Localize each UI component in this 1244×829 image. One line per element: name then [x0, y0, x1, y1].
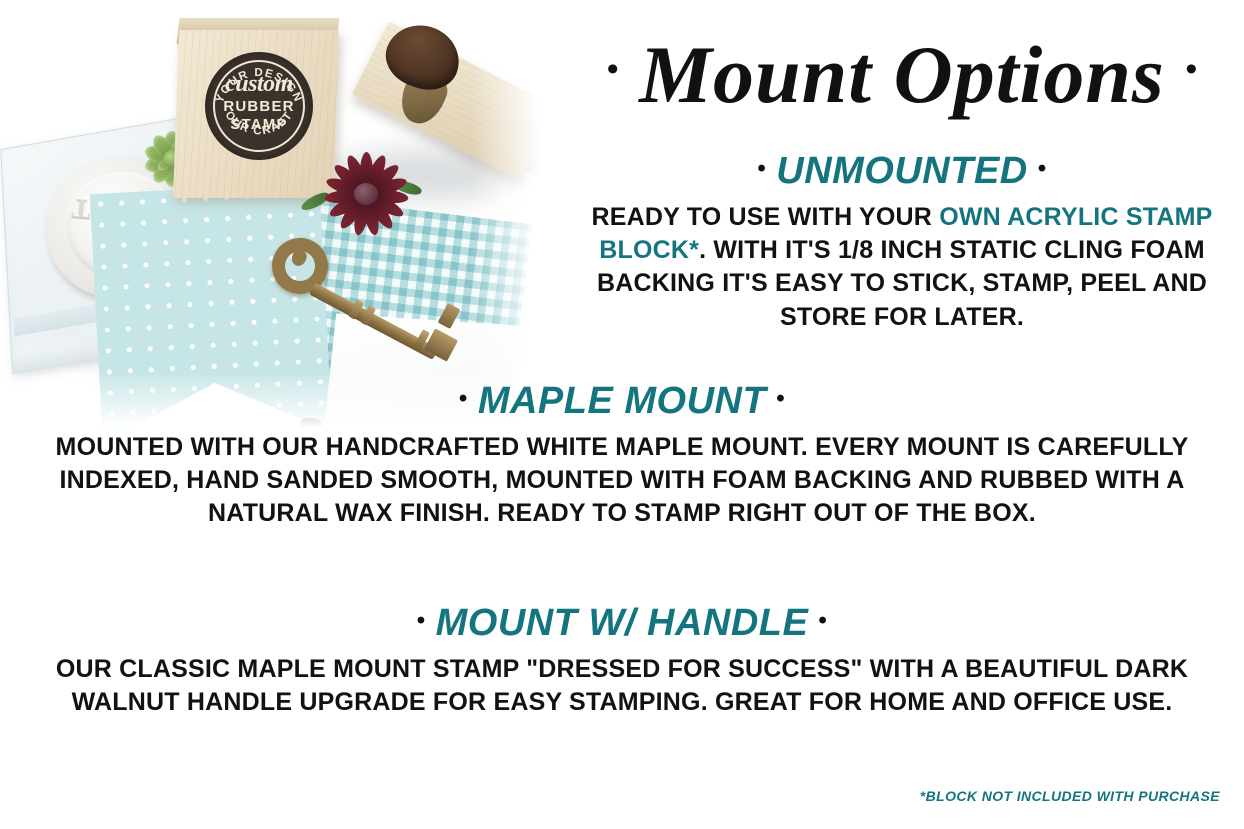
heading-bullet-right: • — [1028, 155, 1057, 182]
heading-bullet-left: • — [449, 385, 478, 412]
mount-options-infographic: THANK — [0, 0, 1244, 829]
section-maple-mount-heading-text: MAPLE MOUNT — [478, 380, 766, 422]
title-bullet-left: • — [607, 51, 619, 88]
stamp-logo-core: custom RUBBER STAMP — [205, 72, 313, 132]
stamp-logo-script: custom — [205, 72, 313, 96]
section-mount-with-handle-heading: •MOUNT W/ HANDLE• — [22, 604, 1222, 644]
section-maple-mount: •MAPLE MOUNT• MOUNTED WITH OUR HANDCRAFT… — [22, 382, 1222, 531]
section-unmounted-heading: •UNMOUNTED• — [560, 152, 1244, 192]
section-unmounted: •UNMOUNTED• READY TO USE WITH YOUR OWN A… — [560, 152, 1244, 334]
stamp-logo-line3: STAMP — [205, 117, 313, 132]
footnote: *BLOCK NOT INCLUDED WITH PURCHASE — [920, 788, 1220, 804]
body-part: READY TO USE WITH YOUR — [592, 203, 940, 231]
section-unmounted-body: READY TO USE WITH YOUR OWN ACRYLIC STAMP… — [560, 201, 1244, 334]
dried-flower — [318, 148, 414, 240]
heading-bullet-right: • — [766, 385, 795, 412]
section-mount-with-handle-body: OUR CLASSIC MAPLE MOUNT STAMP "DRESSED F… — [22, 653, 1222, 720]
section-mount-with-handle-heading-text: MOUNT W/ HANDLE — [436, 602, 809, 644]
heading-bullet-right: • — [808, 607, 837, 634]
title-text: Mount Options — [639, 29, 1165, 120]
stamp-logo-line2: RUBBER — [205, 99, 313, 114]
section-maple-mount-heading: •MAPLE MOUNT• — [22, 382, 1222, 422]
heading-bullet-left: • — [747, 155, 776, 182]
heading-bullet-left: • — [407, 607, 436, 634]
section-maple-mount-body: MOUNTED WITH OUR HANDCRAFTED WHITE MAPLE… — [22, 431, 1222, 531]
title-bullet-right: • — [1185, 51, 1197, 88]
product-photo: THANK — [0, 0, 560, 440]
section-unmounted-heading-text: UNMOUNTED — [776, 150, 1027, 192]
section-mount-with-handle: •MOUNT W/ HANDLE• OUR CLASSIC MAPLE MOUN… — [22, 604, 1222, 719]
page-title: • Mount Options • — [560, 34, 1244, 116]
